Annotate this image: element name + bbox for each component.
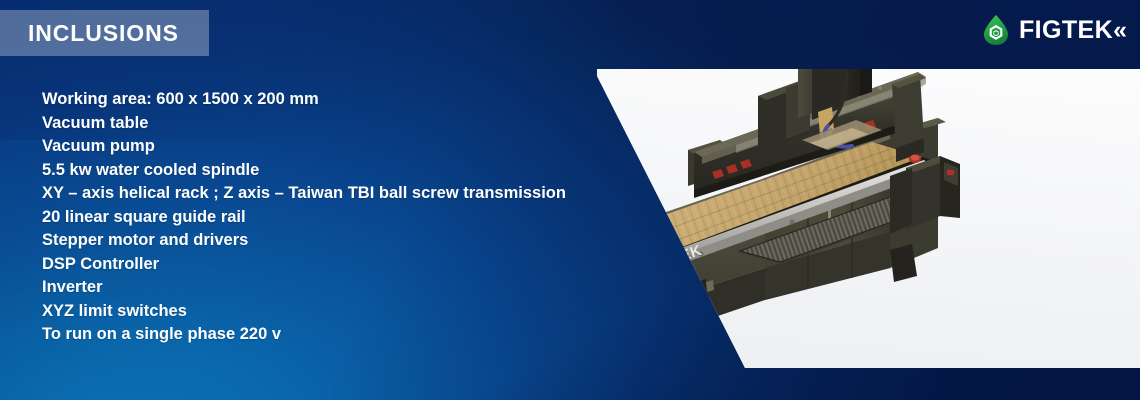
machine-brand-text: FIGTEK [644, 242, 704, 277]
product-photo-panel: FIGTEK [560, 0, 1140, 400]
inclusions-banner: INCLUSIONS FIGTEK« Wo [0, 0, 1140, 400]
section-title-tag: INCLUSIONS [0, 10, 209, 56]
page-title: INCLUSIONS [0, 20, 179, 47]
cnc-router-machine-image: FIGTEK [560, 0, 1140, 400]
